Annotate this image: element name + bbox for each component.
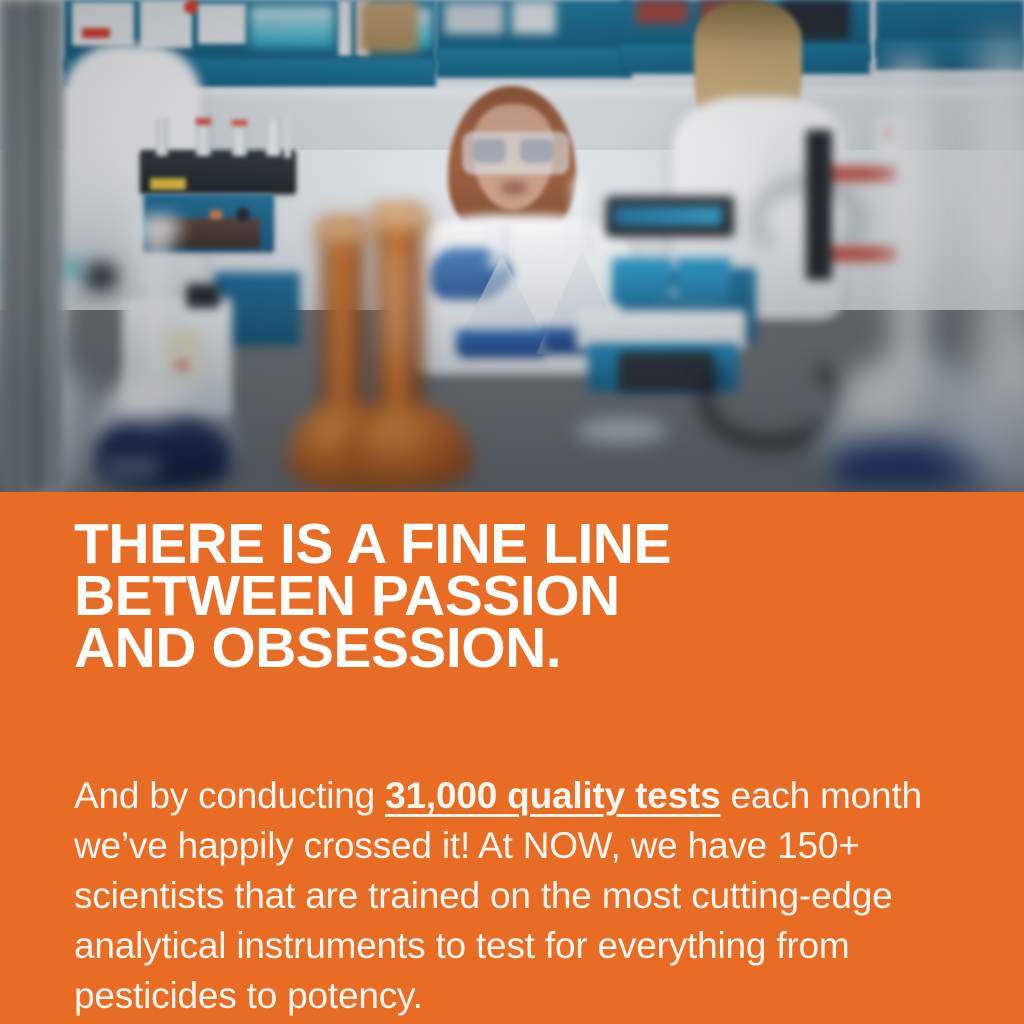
flask-500-neck (142, 218, 174, 380)
instrument-knob (236, 208, 250, 222)
instrument-dark-column (806, 130, 832, 280)
glass-highlight (902, 110, 922, 280)
flask-blue-liquid (456, 330, 548, 358)
scientist-left-hand (84, 262, 118, 292)
balance-body-dark (618, 352, 714, 392)
shelf-bottle-blue (250, 6, 334, 48)
door-frame-seam (38, 0, 41, 492)
orange-text-panel: THERE IS A FINE LINE BETWEEN PASSION AND… (0, 492, 1024, 1024)
goggles-lens-right (520, 139, 554, 163)
flask-neck (570, 178, 592, 256)
door-frame-seam (14, 0, 17, 492)
burette-teal-band (62, 262, 80, 275)
coiled-cable (700, 348, 840, 448)
body-copy-before: And by conducting (74, 775, 385, 816)
glass-highlight (128, 394, 174, 420)
instrument-red-strip (824, 246, 898, 262)
instrument-red-strip (824, 166, 898, 182)
vial-cap (232, 120, 247, 126)
bottle-cap-dark (186, 284, 220, 308)
flask-500-neck-ring (136, 220, 180, 236)
shelf-item (512, 0, 556, 34)
instrument-yellow-label (150, 178, 186, 190)
amber-flask-cap-a (316, 222, 370, 242)
bench-cabinet-blue (676, 258, 730, 304)
shelf-label (82, 28, 110, 38)
stand-rod (284, 112, 291, 158)
scientist-center-mouth (500, 182, 528, 194)
door-frame (0, 0, 62, 492)
shelf-box (198, 4, 246, 44)
instrument-indicator (210, 210, 222, 219)
goggles-lens-left (472, 139, 506, 163)
social-media-card: 500 THERE IS A FINE LINE BETWEEN PASSION… (0, 0, 1024, 1024)
glass-highlight (996, 90, 1018, 280)
cabinet-valance (436, 48, 632, 78)
headline: THERE IS A FINE LINE BETWEEN PASSION AND… (74, 518, 954, 674)
vial-cap (196, 118, 211, 125)
shelf-box (72, 2, 134, 46)
shelf-item-red (636, 0, 688, 24)
flask-neck-center (487, 224, 509, 268)
flask-500-graduation-label: 500 (106, 452, 192, 486)
petri-dish (576, 418, 668, 444)
laboratory-photo: 500 (0, 0, 1024, 492)
body-copy-emphasis: 31,000 quality tests (385, 775, 720, 816)
amber-flask-cap-b (370, 208, 428, 230)
body-copy: And by conducting 31,000 quality tests e… (74, 771, 944, 1021)
vial (266, 120, 281, 156)
glass-highlight (388, 250, 402, 360)
instrument-right-panel (614, 206, 722, 226)
vial (156, 118, 168, 156)
bench-cabinet-blue (612, 258, 672, 304)
shelf-bottle (338, 0, 352, 56)
shelf-item (444, 2, 504, 34)
cardboard-box (360, 0, 418, 52)
